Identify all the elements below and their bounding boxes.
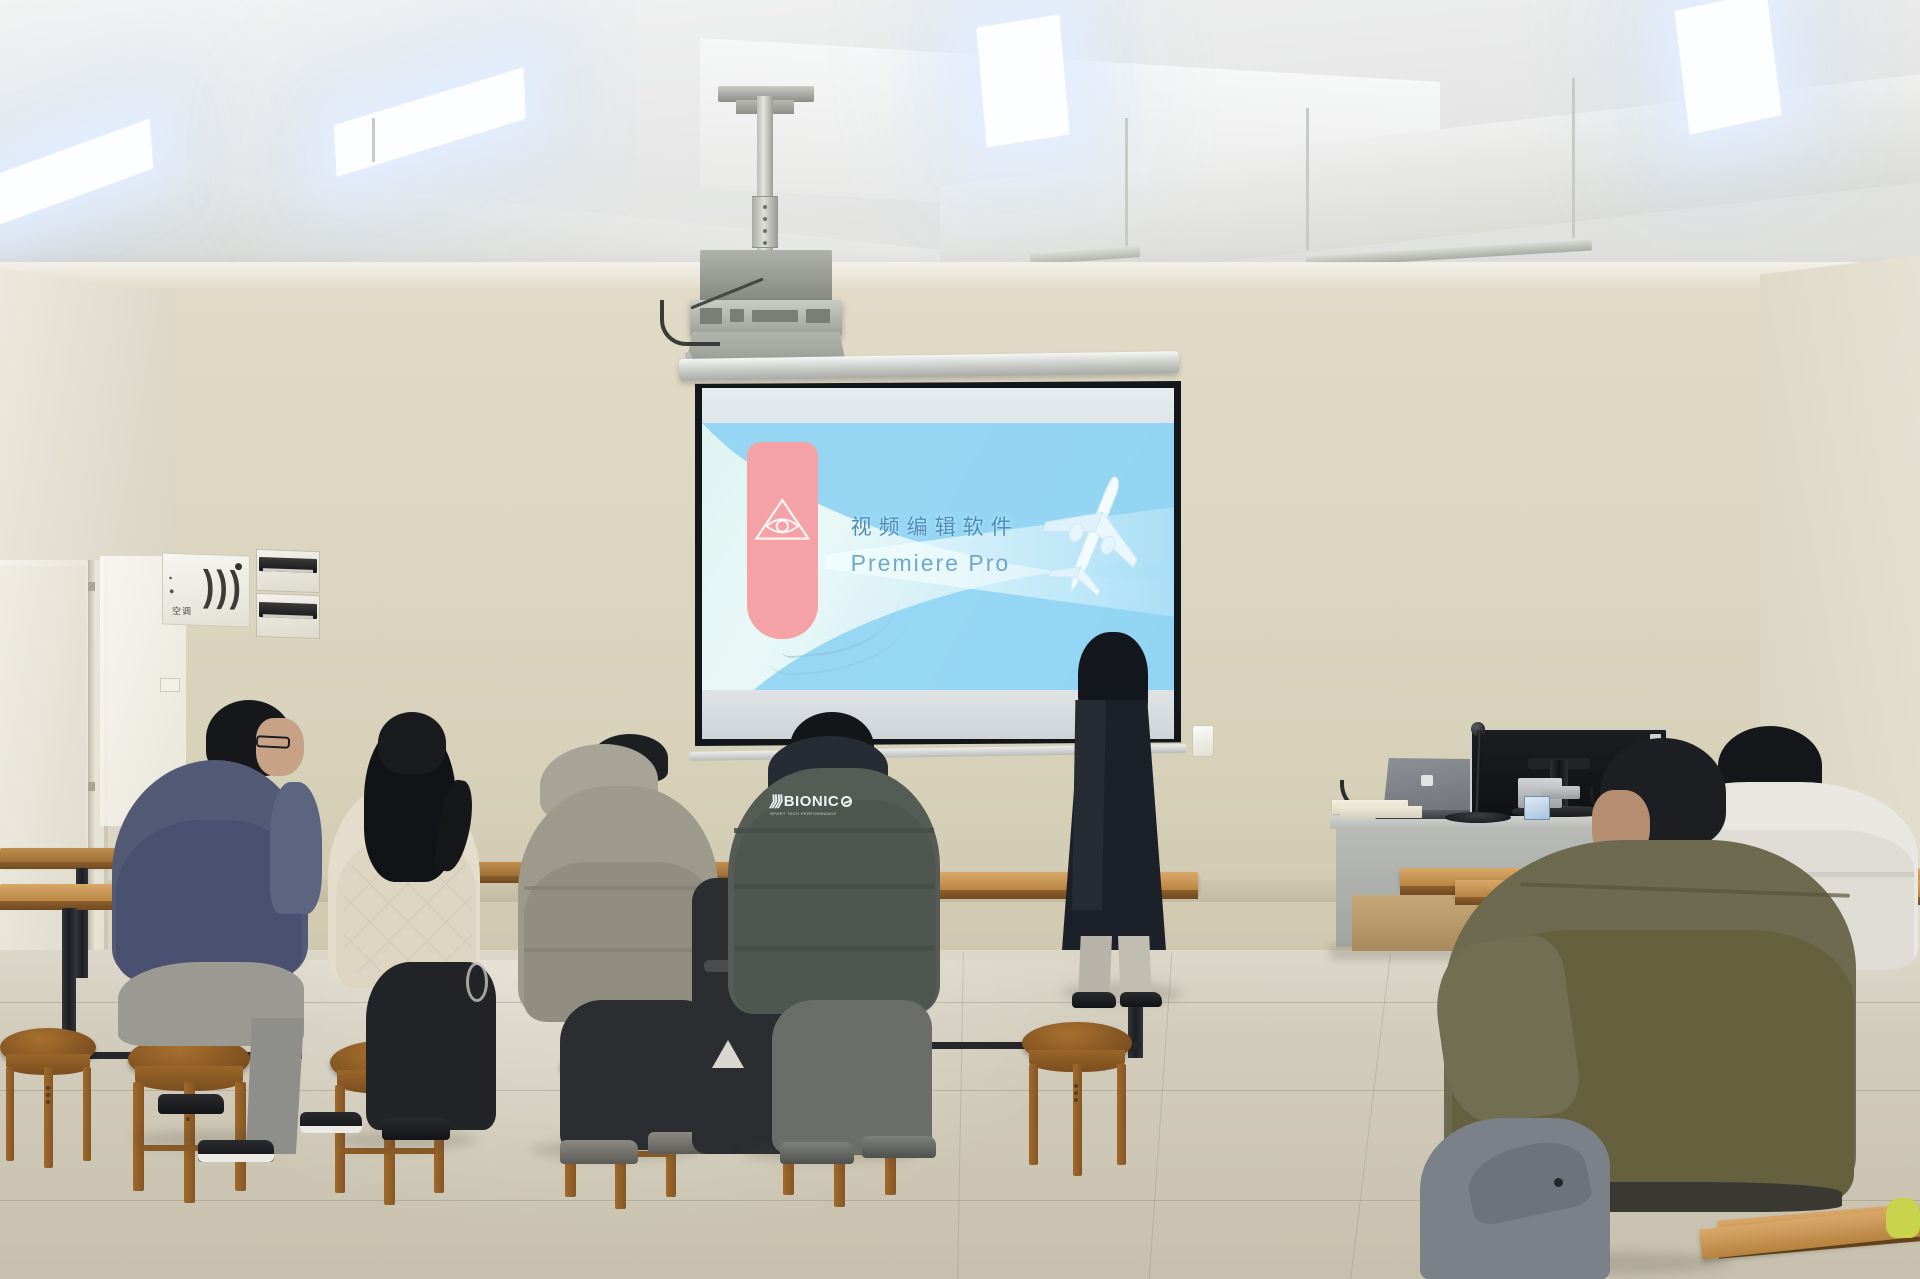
suspension-rod-1 bbox=[1306, 108, 1309, 250]
slide-subtitle-english: Premiere Pro bbox=[851, 550, 1010, 577]
jacket-brand-logo: ⟫⟫BIONIC SPORT TECH PERFORMANCE bbox=[770, 792, 852, 816]
stool-0[interactable] bbox=[0, 1028, 96, 1158]
door-jamb bbox=[88, 560, 95, 990]
wall-top-strip bbox=[0, 262, 1920, 288]
glasses-icon bbox=[256, 735, 291, 749]
x-bionic-x-icon: ⟫⟫ bbox=[768, 792, 783, 810]
air-conditioning-sign: ))) ▪● 空调 bbox=[162, 552, 250, 627]
suspension-rod-4 bbox=[372, 118, 375, 162]
wall-sign-label: 空调 bbox=[172, 604, 192, 618]
door-hinge-top bbox=[88, 582, 95, 591]
x-bionic-circle-icon bbox=[841, 796, 852, 807]
ceiling-light-panel-4 bbox=[1673, 0, 1782, 136]
suspension-rod-3 bbox=[1125, 118, 1128, 246]
desk-papers-second bbox=[1340, 806, 1422, 818]
classroom-scene: ))) ▪● 空调 bbox=[0, 0, 1920, 1279]
airflow-waves-icon: ))) bbox=[203, 565, 243, 609]
jacket-brand-text: BIONIC bbox=[784, 793, 840, 810]
screen-blank-top bbox=[702, 388, 1174, 423]
jacket-brand-subtext: SPORT TECH PERFORMANCE bbox=[770, 811, 852, 816]
bag-strap-ring bbox=[466, 962, 488, 1002]
sign-small-icons: ▪● bbox=[169, 572, 174, 598]
suspension-rod-2 bbox=[1572, 78, 1575, 238]
projector-height-adjuster bbox=[752, 196, 778, 248]
microphone-base bbox=[1445, 812, 1511, 823]
electrical-panel-lower[interactable] bbox=[256, 593, 320, 639]
ceiling-light-panel-3 bbox=[975, 13, 1071, 148]
airplane-icon bbox=[1037, 466, 1150, 605]
projector-cable bbox=[660, 300, 720, 346]
door-hinge-bottom bbox=[88, 782, 95, 791]
electrical-panel-upper[interactable] bbox=[256, 549, 320, 593]
light-switch[interactable] bbox=[160, 678, 180, 692]
laptop-logo-icon bbox=[1421, 775, 1433, 786]
pocket-detail bbox=[1554, 1178, 1563, 1187]
stool-5[interactable] bbox=[1022, 1022, 1132, 1162]
slide-title-chinese: 视频编辑软件 bbox=[851, 511, 1019, 541]
wall-outlet[interactable] bbox=[1192, 725, 1214, 757]
yellow-object bbox=[1886, 1198, 1920, 1238]
eye-in-triangle-icon bbox=[754, 490, 811, 549]
small-blue-device[interactable] bbox=[1524, 796, 1550, 820]
